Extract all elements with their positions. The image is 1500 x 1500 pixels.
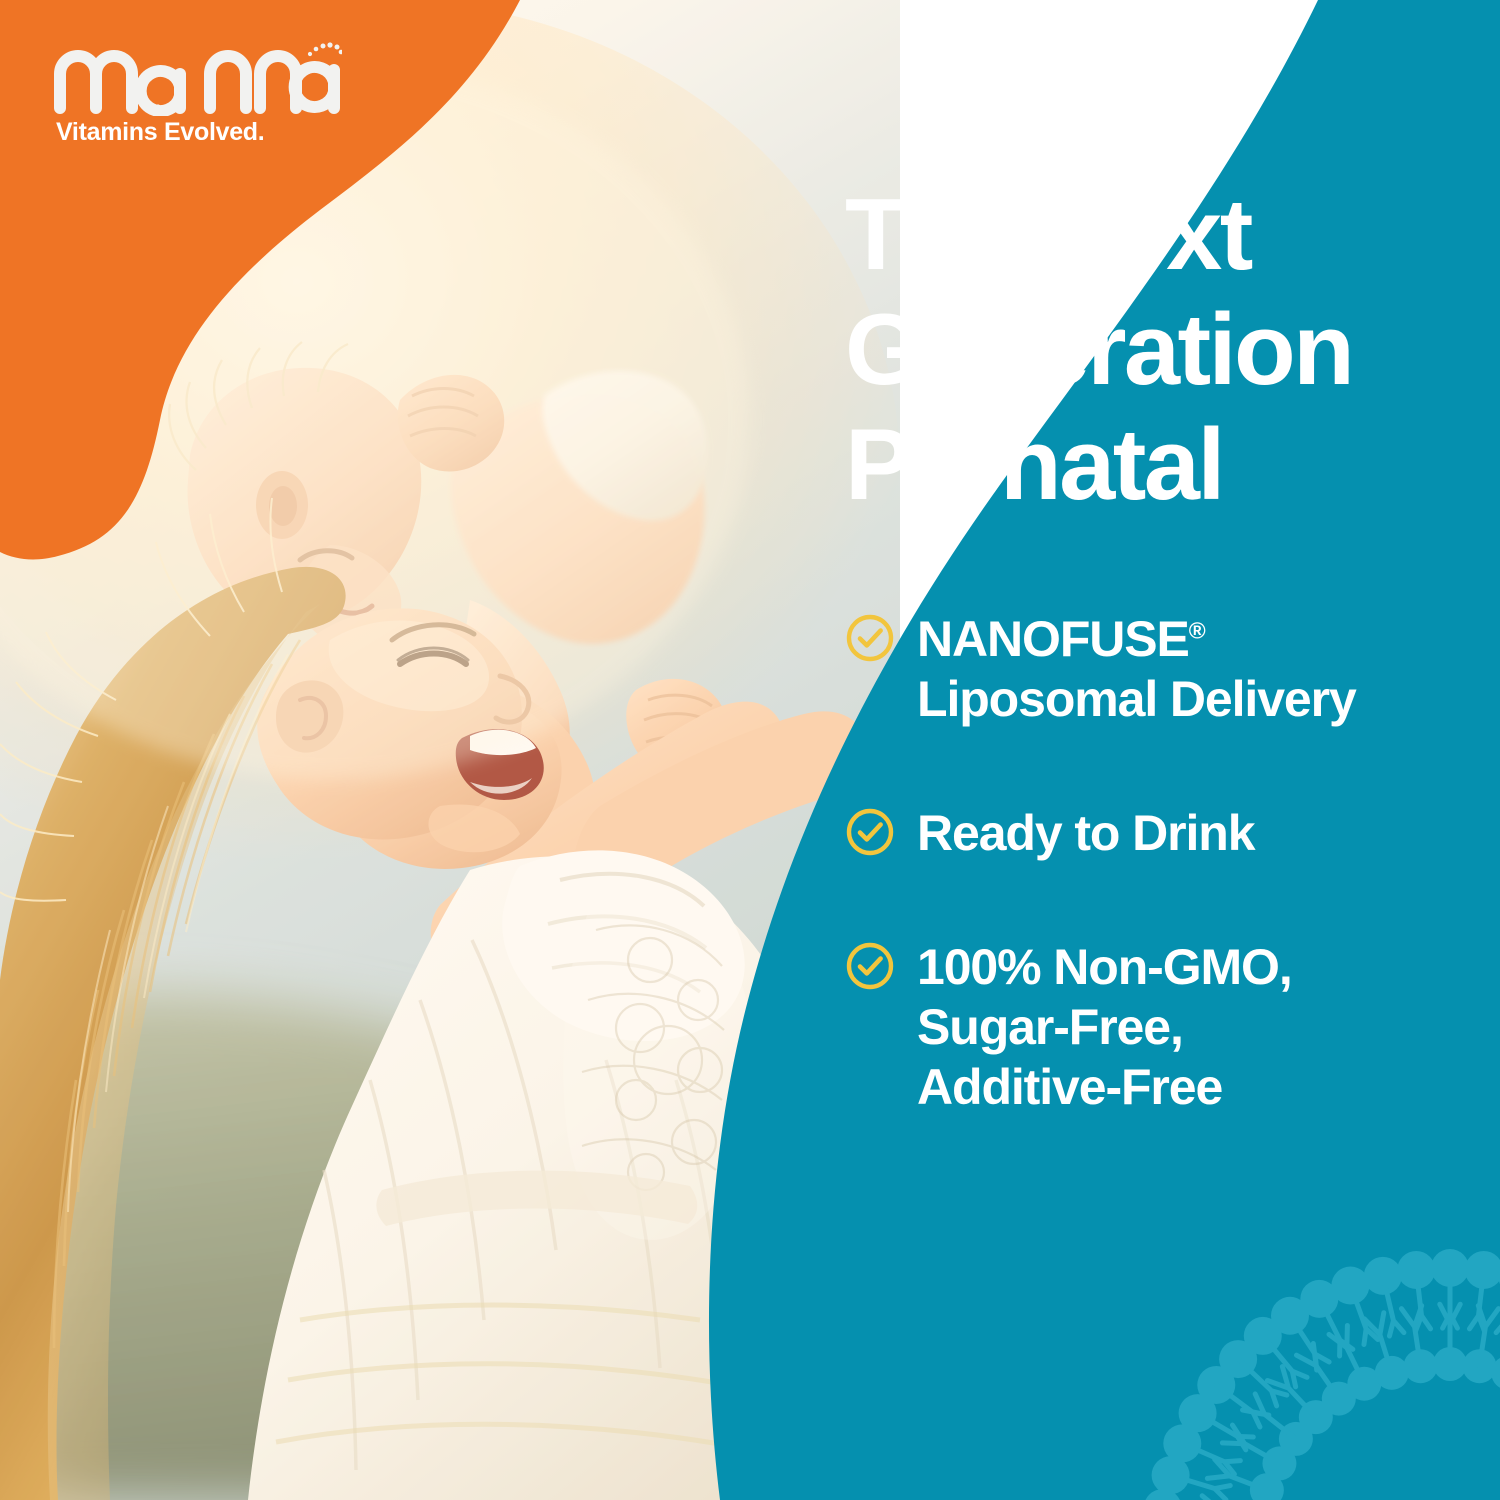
feature-line: Ready to Drink [917,803,1254,863]
feature-line: NANOFUSE® [917,609,1356,669]
feature-list: NANOFUSE® Liposomal Delivery Ready to Dr… [845,609,1485,1117]
feature-line: 100% Non-GMO, [917,937,1292,997]
feature-line: Liposomal Delivery [917,669,1356,729]
marketing-copy: The Next Generation Prenatal NANOFUSE® L… [845,178,1485,1117]
headline-line-2: Generation [845,293,1485,408]
feature-line: Additive-Free [917,1057,1292,1117]
product-marketing-banner: Vitamins Evolved. The Next Generation Pr… [0,0,1500,1500]
brand-tagline: Vitamins Evolved. [56,120,382,145]
circle-check-icon [845,807,895,857]
feature-text-non-gmo: 100% Non-GMO, Sugar-Free, Additive-Free [917,937,1292,1117]
feature-text-nanofuse: NANOFUSE® Liposomal Delivery [917,609,1356,729]
feature-line: Sugar-Free, [917,997,1292,1057]
feature-item-ready-to-drink: Ready to Drink [845,803,1485,863]
headline-line-3: Prenatal [845,408,1485,523]
feature-item-nanofuse: NANOFUSE® Liposomal Delivery [845,609,1485,729]
circle-check-icon [845,941,895,991]
feature-item-non-gmo: 100% Non-GMO, Sugar-Free, Additive-Free [845,937,1485,1117]
brand-logo: Vitamins Evolved. [52,30,382,145]
registered-trademark-symbol: ® [1189,618,1205,644]
circle-check-icon [845,613,895,663]
manna-wordmark-icon [52,30,342,116]
page-title: The Next Generation Prenatal [845,178,1485,523]
feature-text-ready-to-drink: Ready to Drink [917,803,1254,863]
headline-line-1: The Next [845,178,1485,293]
